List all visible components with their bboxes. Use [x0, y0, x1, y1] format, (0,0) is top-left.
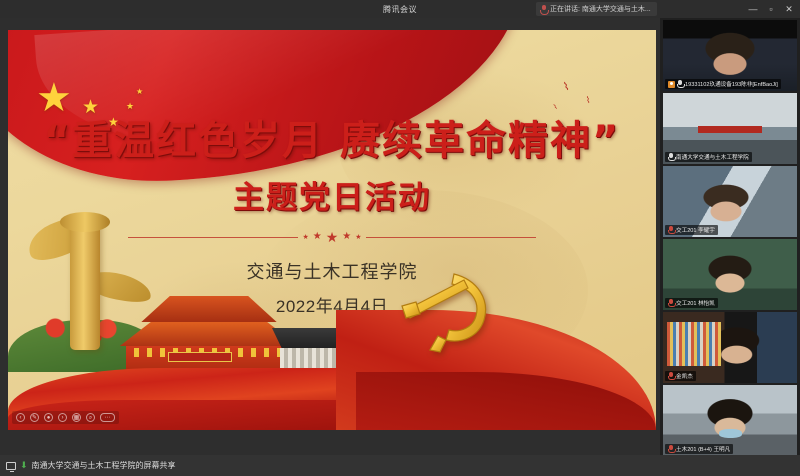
microphone-icon: [677, 80, 683, 88]
next-slide-icon[interactable]: ›: [58, 413, 67, 422]
participant-name-bar: 交工201 林怡凯: [665, 298, 718, 308]
slide-headline: “重温红色岁月 赓续革命精神”: [8, 108, 656, 166]
maximize-button[interactable]: ▫: [762, 0, 780, 18]
ppt-presenter-toolbar[interactable]: ‹ ✎ ● › ▦ ⌕ ⋯: [12, 411, 119, 424]
more-options-icon[interactable]: ⋯: [100, 413, 115, 422]
participant-name: 南通大学交通与土木工程学院: [676, 153, 749, 161]
participant-name: 金凯杰: [676, 372, 693, 380]
participant-tile[interactable]: 南通大学交通与土木工程学院: [663, 93, 797, 164]
microphone-muted-icon: [668, 372, 674, 380]
status-bar: ⬇ 南通大学交通与土木工程学院的屏幕共享: [0, 455, 800, 476]
participant-name: 交工201 林怡凯: [676, 299, 715, 307]
shared-screen-stage[interactable]: ★ ★ ★ ★ ★ ⌇ ⌇ ⌇ “重温红色岁月 赓续革命精神” 主题党日活动 ★…: [0, 18, 660, 455]
pen-tool-icon[interactable]: ✎: [30, 413, 39, 422]
microphone-muted-icon: [668, 226, 674, 234]
participant-name: 交工201 李耀宇: [676, 226, 715, 234]
participant-name-bar: 南通大学交通与土木工程学院: [665, 152, 752, 162]
screen-share-label: 南通大学交通与土木工程学院的屏幕共享: [32, 460, 176, 471]
participant-video-rail[interactable]: 19331102玖通设备193陈非[EnfBaoJi] 南通大学交通与土木工程学…: [660, 18, 800, 455]
gate-roof-upper: [120, 296, 298, 322]
title-bar: 腾讯会议 正在讲话: 南通大学交通与土木... — ▫ ✕: [0, 0, 800, 18]
pointer-options-icon[interactable]: ●: [44, 413, 53, 422]
bird-icon: ⌇: [562, 81, 571, 93]
participant-tile[interactable]: 土木201 (B+4) 王明凡: [663, 385, 797, 456]
huabiao-cap: [60, 212, 110, 232]
speaking-indicator-label: 正在讲话: 南通大学交通与土木...: [550, 4, 651, 14]
microphone-muted-icon: [668, 445, 674, 453]
flag-star-icon: ★: [136, 88, 143, 96]
bird-icon: ⌇: [585, 96, 591, 106]
close-button[interactable]: ✕: [780, 0, 798, 18]
participant-name: 19331102玖通设备193陈非[EnfBaoJi]: [685, 80, 778, 88]
app-title: 腾讯会议: [0, 4, 800, 15]
microphone-icon: [668, 153, 674, 161]
speaking-indicator: 正在讲话: 南通大学交通与土木...: [536, 2, 657, 16]
presentation-slide: ★ ★ ★ ★ ★ ⌇ ⌇ ⌇ “重温红色岁月 赓续革命精神” 主题党日活动 ★…: [8, 30, 656, 430]
window-controls: — ▫ ✕: [744, 0, 798, 18]
participant-name-bar: 交工201 李耀宇: [665, 225, 718, 235]
microphone-muted-icon: [668, 299, 674, 307]
participant-name: 土木201 (B+4) 王明凡: [676, 445, 730, 453]
host-badge-icon: [668, 81, 675, 88]
minimize-button[interactable]: —: [744, 0, 762, 18]
participant-tile[interactable]: 金凯杰: [663, 312, 797, 383]
divider-rule-right: [366, 237, 536, 238]
party-emblem-icon: [394, 266, 500, 358]
participant-tile[interactable]: 交工201 林怡凯: [663, 239, 797, 310]
download-arrow-icon: ⬇: [20, 461, 28, 470]
participant-name-bar: 金凯杰: [665, 371, 696, 381]
zoom-tool-icon[interactable]: ⌕: [86, 413, 95, 422]
participant-tile[interactable]: 交工201 李耀宇: [663, 166, 797, 237]
previous-slide-icon[interactable]: ‹: [16, 413, 25, 422]
huabiao-column: [70, 218, 100, 350]
participant-tile[interactable]: 19331102玖通设备193陈非[EnfBaoJi]: [663, 20, 797, 91]
microphone-icon: [540, 5, 547, 14]
participant-name-bar: 19331102玖通设备193陈非[EnfBaoJi]: [665, 79, 781, 89]
tencent-meeting-window: 腾讯会议 正在讲话: 南通大学交通与土木... — ▫ ✕ ★ ★ ★ ★: [0, 0, 800, 476]
gate-signboard: [168, 352, 232, 362]
tiananmen-illustration: [8, 210, 388, 430]
participant-name-bar: 土木201 (B+4) 王明凡: [665, 444, 733, 454]
slide-navigator-icon[interactable]: ▦: [72, 413, 81, 422]
screen-share-icon: [6, 462, 16, 470]
